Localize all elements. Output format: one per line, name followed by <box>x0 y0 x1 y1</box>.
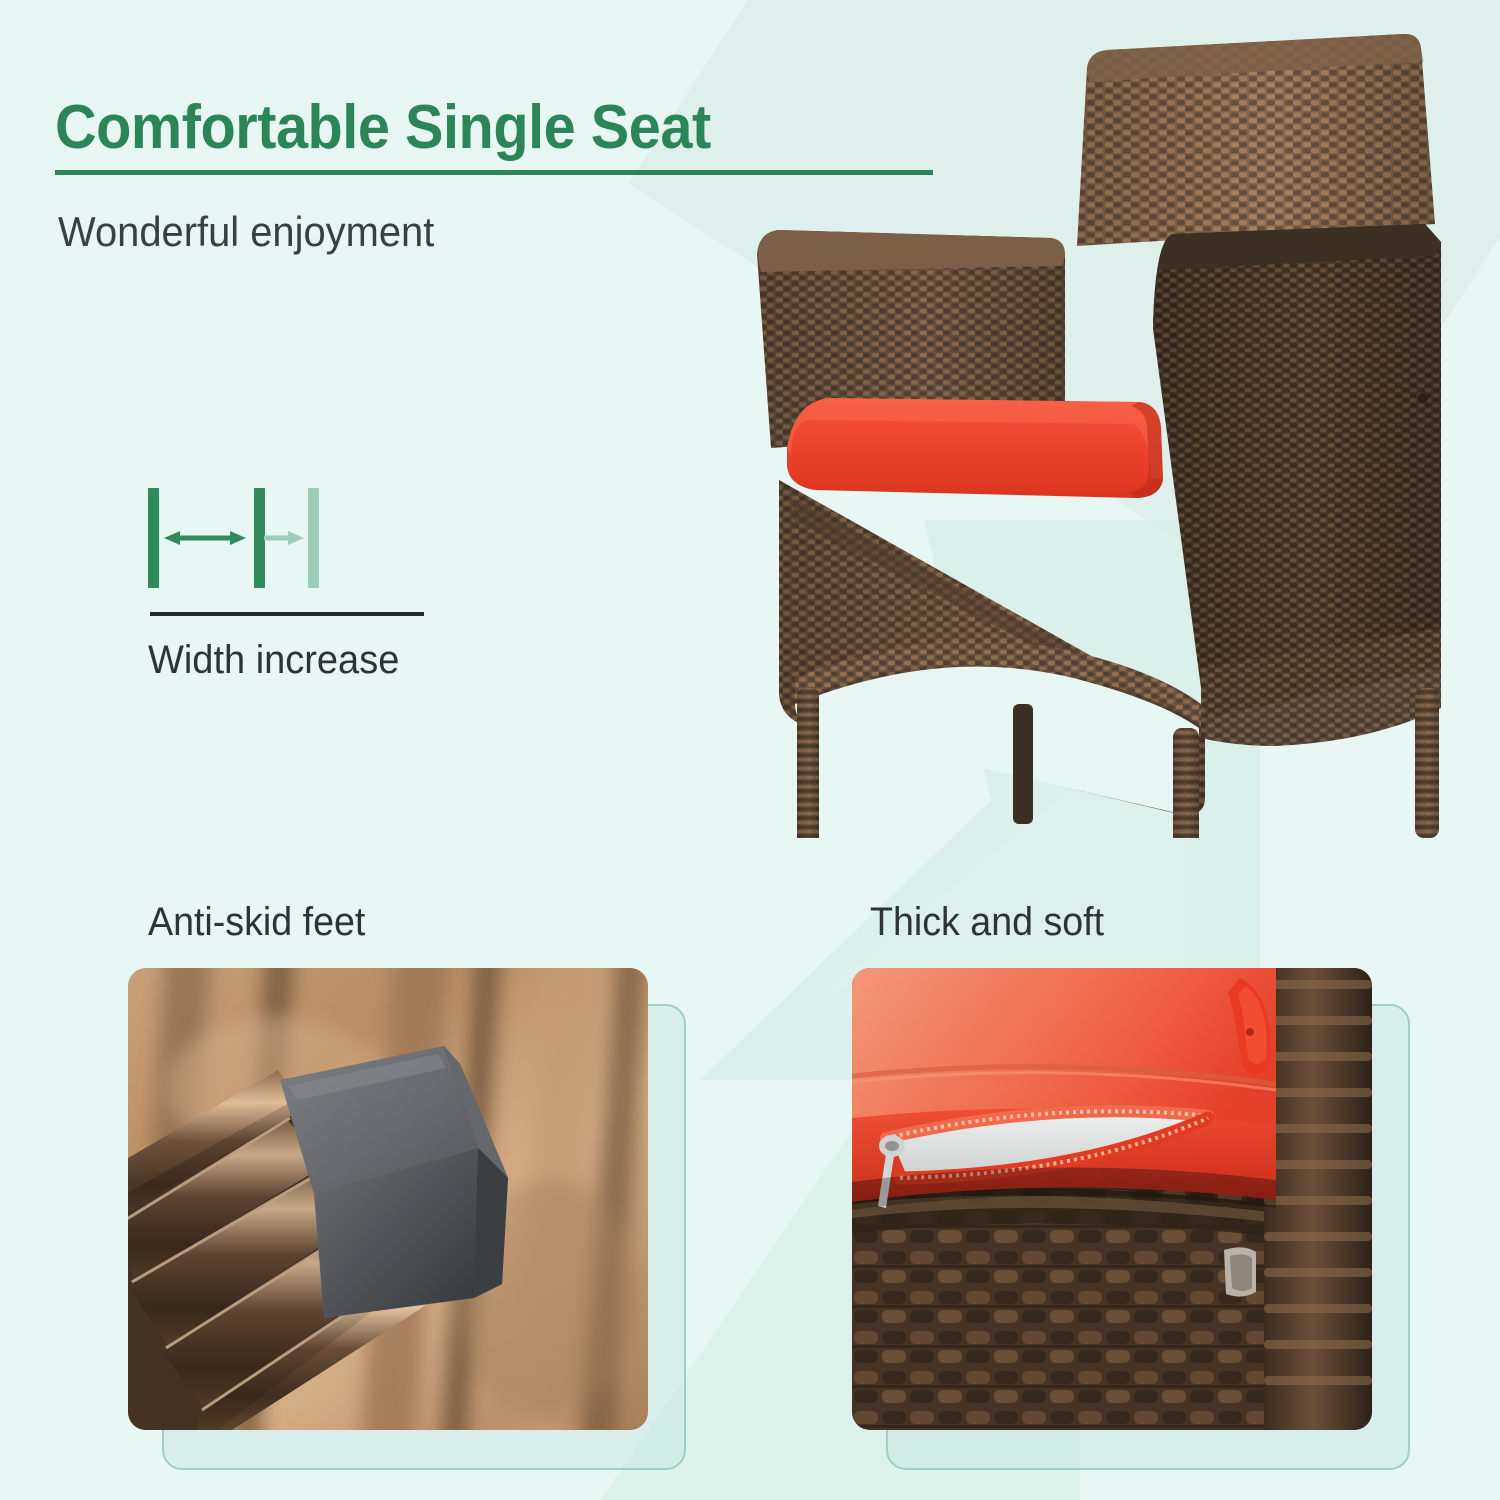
chair-backrest <box>1077 34 1435 246</box>
width-bar-right <box>308 488 319 588</box>
photo-caption-anti-skid-feet: Anti-skid feet <box>148 900 365 945</box>
width-divider-line <box>150 612 424 616</box>
seat-cushion <box>787 398 1163 498</box>
rattan-armchair-illustration <box>735 28 1495 838</box>
double-arrow-icon <box>164 531 246 545</box>
photo-caption-thick-and-soft: Thick and soft <box>870 900 1104 945</box>
width-arrows-icon <box>148 488 348 588</box>
product-feature-banner: Comfortable Single Seat Wonderful enjoym… <box>0 0 1500 1500</box>
page-subtitle: Wonderful enjoyment <box>58 208 434 256</box>
cushion-zipper-photo <box>852 968 1372 1430</box>
width-bar-left <box>148 488 159 588</box>
single-arrow-icon <box>264 531 304 545</box>
photo-card-anti-skid-feet <box>128 968 648 1430</box>
photo-card-thick-and-soft <box>852 968 1372 1430</box>
cushion <box>852 968 1276 1210</box>
feature-width-label: Width increase <box>148 638 433 683</box>
chair-seat-frame <box>779 480 1205 816</box>
feature-width-increase: Width increase <box>148 488 448 683</box>
anti-skid-foot-photo <box>128 968 648 1430</box>
